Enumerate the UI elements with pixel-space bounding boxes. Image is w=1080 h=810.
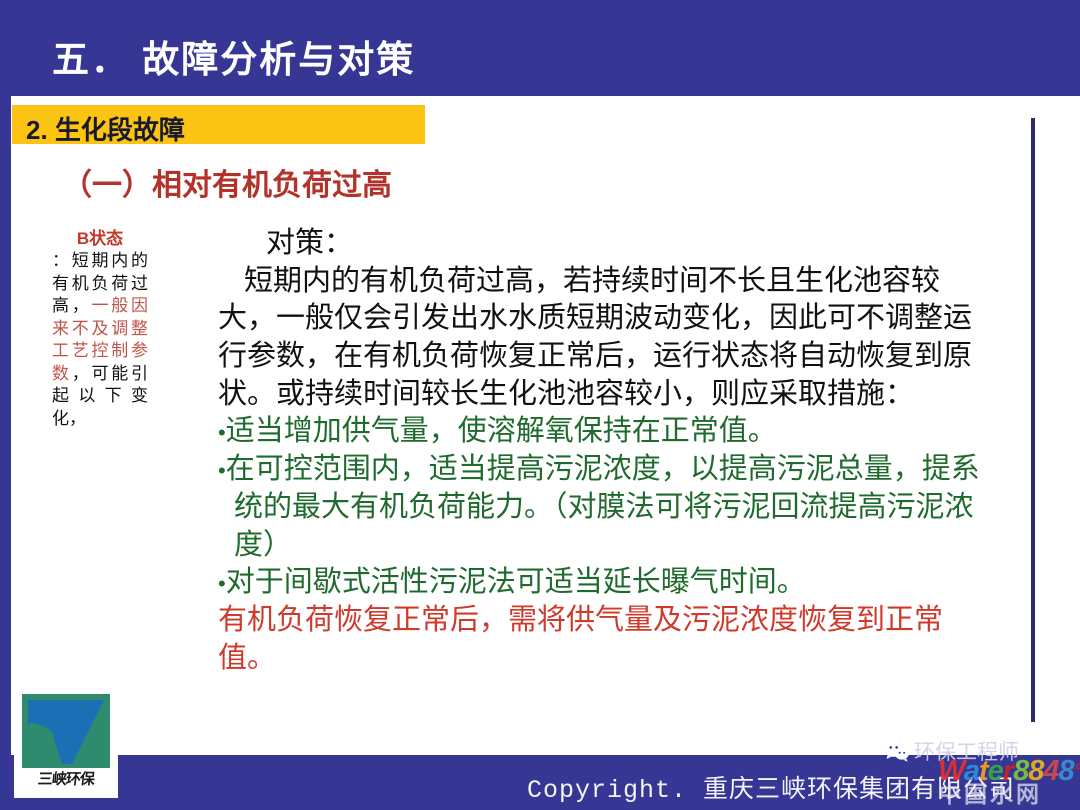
logo-caption: 三峡环保: [17, 768, 115, 789]
countermeasure-label: 对策：: [218, 225, 353, 263]
wechat-icon: [884, 740, 909, 762]
vertical-divider-line: [1031, 118, 1035, 722]
list-item: •对于间歇式活性污泥法可适当延长曝气时间。: [218, 564, 990, 602]
countermeasure-text: 短期内的有机负荷过高，若持续时间不长且生化池容较大，一般仅会引发出水水质短期波动…: [218, 265, 972, 410]
list-item-text: 适当增加供气量，使溶解氧保持在正常值。: [226, 415, 777, 447]
bullet-dot-icon: •: [218, 458, 226, 483]
state-note-title: B状态: [52, 228, 148, 250]
site-watermark: Water8848.com 中国水网: [938, 757, 1080, 806]
state-note-column: B状态：短期内的有机负荷过高，一般因来不及调整工艺控制参数，可能引起以下变化，: [52, 228, 148, 430]
left-accent-strip: [0, 96, 11, 755]
countermeasure-paragraph: 对策： 短期内的有机负荷过高，若持续时间不长且生化池容较大，一般仅会引发出水水质…: [218, 225, 990, 413]
slide-canvas: 五． 故障分析与对策 2. 生化段故障 （一）相对有机负荷过高 B状态：短期内的…: [0, 0, 1080, 810]
bullet-dot-icon: •: [218, 571, 226, 596]
site-watermark-cn: 中国水网: [938, 783, 1080, 806]
measure-bullet-list: •适当增加供气量，使溶解氧保持在正常值。 •在可控范围内，适当提高污泥浓度，以提…: [218, 413, 990, 601]
bullet-dot-icon: •: [218, 420, 226, 445]
list-item: •适当增加供气量，使溶解氧保持在正常值。: [218, 413, 990, 451]
body-column: 对策： 短期内的有机负荷过高，若持续时间不长且生化池容较大，一般仅会引发出水水质…: [218, 225, 990, 677]
section-banner: 2. 生化段故障: [12, 105, 425, 144]
subsection-heading: （一）相对有机负荷过高: [62, 160, 392, 204]
company-logo: 三峡环保: [14, 688, 118, 798]
slide-header-bar: 五． 故障分析与对策: [0, 0, 1080, 96]
list-item: •在可控范围内，适当提高污泥浓度，以提高污泥总量，提系统的最大有机负荷能力。（对…: [218, 451, 990, 564]
section-banner-label: 2. 生化段故障: [26, 110, 185, 147]
three-gorges-logo-icon: [22, 694, 110, 768]
list-item-text: 在可控范围内，适当提高污泥浓度，以提高污泥总量，提系统的最大有机负荷能力。（对膜…: [226, 453, 980, 560]
closing-note: 有机负荷恢复正常后，需将供气量及污泥浓度恢复到正常值。: [218, 602, 990, 677]
page-title: 五． 故障分析与对策: [52, 29, 415, 83]
list-item-text: 对于间歇式活性污泥法可适当延长曝气时间。: [226, 566, 806, 598]
